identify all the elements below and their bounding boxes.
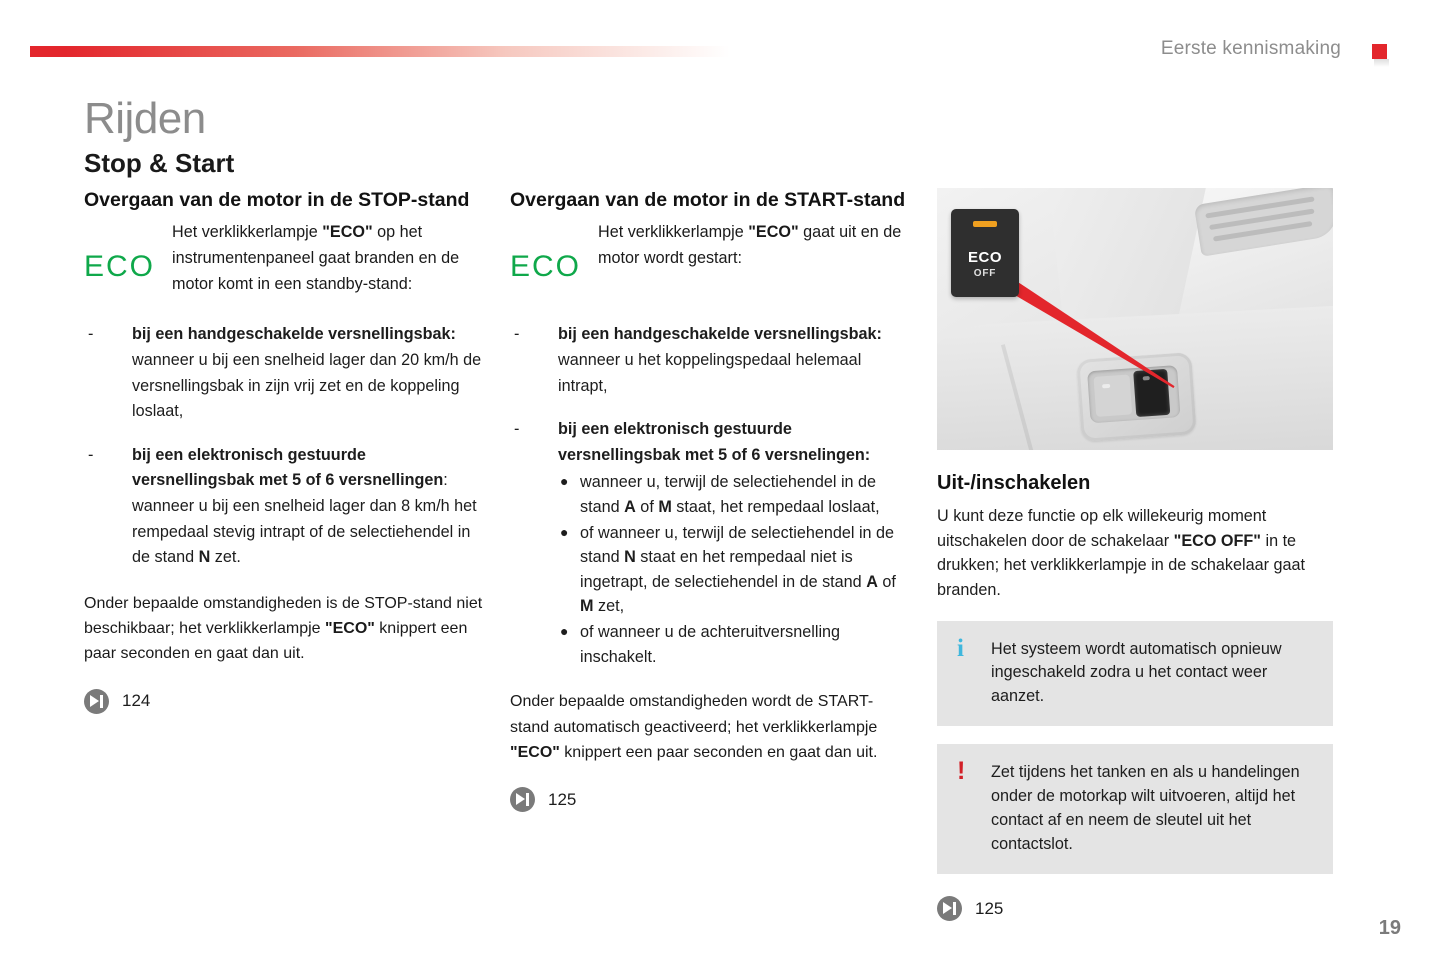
header-gradient-rule xyxy=(30,46,730,57)
bullet-dot-icon: ● xyxy=(560,620,568,643)
header-title: Eerste kennismaking xyxy=(1161,38,1341,60)
chapter-title: Rijden xyxy=(84,94,206,144)
eco-off-button-closeup: ECO OFF xyxy=(951,209,1019,297)
eco-logo-icon: ECO xyxy=(84,250,155,284)
sub-bullet-list: ●wanneer u, terwijl de selectiehendel in… xyxy=(558,470,910,669)
column-right: ECO OFF Uit-/inschakelen U kunt deze fun… xyxy=(937,188,1333,921)
list-item: -bij een handgeschakelde versnellingsbak… xyxy=(84,322,484,424)
sub-list-item: ●of wanneer u, terwijl de selectiehendel… xyxy=(558,521,910,620)
right-body-text: U kunt deze functie op elk willekeurig m… xyxy=(937,504,1333,603)
column-middle: Overgaan van de motor in de START-stand … xyxy=(510,188,910,812)
info-icon: i xyxy=(957,636,964,661)
middle-bullet-list: -bij een handgeschakelde versnellingsbak… xyxy=(510,322,910,669)
list-item: -bij een handgeschakelde versnellingsbak… xyxy=(510,322,910,399)
info-note-box: i Het systeem wordt automatisch opnieuw … xyxy=(937,621,1333,727)
right-page-reference[interactable]: 125 xyxy=(937,896,1333,921)
left-page-reference[interactable]: 124 xyxy=(84,689,484,714)
page-reference-icon xyxy=(510,787,535,812)
dashboard-eco-off-switch-photo: ECO OFF xyxy=(937,188,1333,450)
bullet-dot-icon: ● xyxy=(560,521,568,544)
middle-closing-text: Onder bepaalde omstandigheden wordt de S… xyxy=(510,689,910,765)
right-page-reference-number: 125 xyxy=(975,899,1003,919)
left-page-reference-number: 124 xyxy=(122,691,150,711)
list-dash-marker: - xyxy=(514,322,519,348)
left-heading: Overgaan van de motor in de STOP-stand xyxy=(84,188,484,212)
warning-note-text: Zet tijdens het tanken en als u handelin… xyxy=(991,761,1315,857)
bullet-dot-icon: ● xyxy=(560,470,568,493)
red-square-icon xyxy=(1372,44,1387,59)
left-intro-text: Het verklikkerlampje "ECO" op het instru… xyxy=(172,220,484,298)
column-left: Overgaan van de motor in de STOP-stand E… xyxy=(84,188,484,714)
info-note-text: Het systeem wordt automatisch opnieuw in… xyxy=(991,638,1315,710)
sub-list-item: ●wanneer u, terwijl de selectiehendel in… xyxy=(558,470,910,519)
page-reference-icon xyxy=(84,689,109,714)
eco-off-led-indicator xyxy=(973,221,997,227)
list-dash-marker: - xyxy=(88,443,93,469)
middle-heading: Overgaan van de motor in de START-stand xyxy=(510,188,910,212)
eco-off-button-label: ECO xyxy=(951,249,1019,266)
warning-icon: ! xyxy=(957,759,965,784)
eco-off-switch[interactable] xyxy=(1133,369,1170,417)
middle-eco-intro: ECO Het verklikkerlampje "ECO" gaat uit … xyxy=(510,220,910,304)
left-bullet-list: -bij een handgeschakelde versnellingsbak… xyxy=(84,322,484,570)
sub-list-item: ●of wanneer u de achteruitversnelling in… xyxy=(558,620,910,669)
section-title: Stop & Start xyxy=(84,148,234,179)
left-eco-intro: ECO Het verklikkerlampje "ECO" op het in… xyxy=(84,220,484,304)
adjacent-switch xyxy=(1093,374,1132,416)
eco-logo-icon: ECO xyxy=(510,250,581,284)
list-item: -bij een elektronisch gestuurde versnell… xyxy=(84,443,484,571)
left-closing-text: Onder bepaalde omstandigheden is de STOP… xyxy=(84,591,484,667)
page-reference-icon xyxy=(937,896,962,921)
list-dash-marker: - xyxy=(88,322,93,348)
warning-note-box: ! Zet tijdens het tanken en als u handel… xyxy=(937,744,1333,874)
list-dash-marker: - xyxy=(514,417,519,443)
right-heading: Uit-/inschakelen xyxy=(937,472,1333,495)
eco-off-button-sublabel: OFF xyxy=(951,268,1019,279)
page-number: 19 xyxy=(1379,917,1401,940)
middle-page-reference[interactable]: 125 xyxy=(510,787,910,812)
middle-page-reference-number: 125 xyxy=(548,790,576,810)
middle-intro-text: Het verklikkerlampje "ECO" gaat uit en d… xyxy=(598,220,910,272)
list-item: -bij een elektronisch gestuurde versnell… xyxy=(510,417,910,669)
